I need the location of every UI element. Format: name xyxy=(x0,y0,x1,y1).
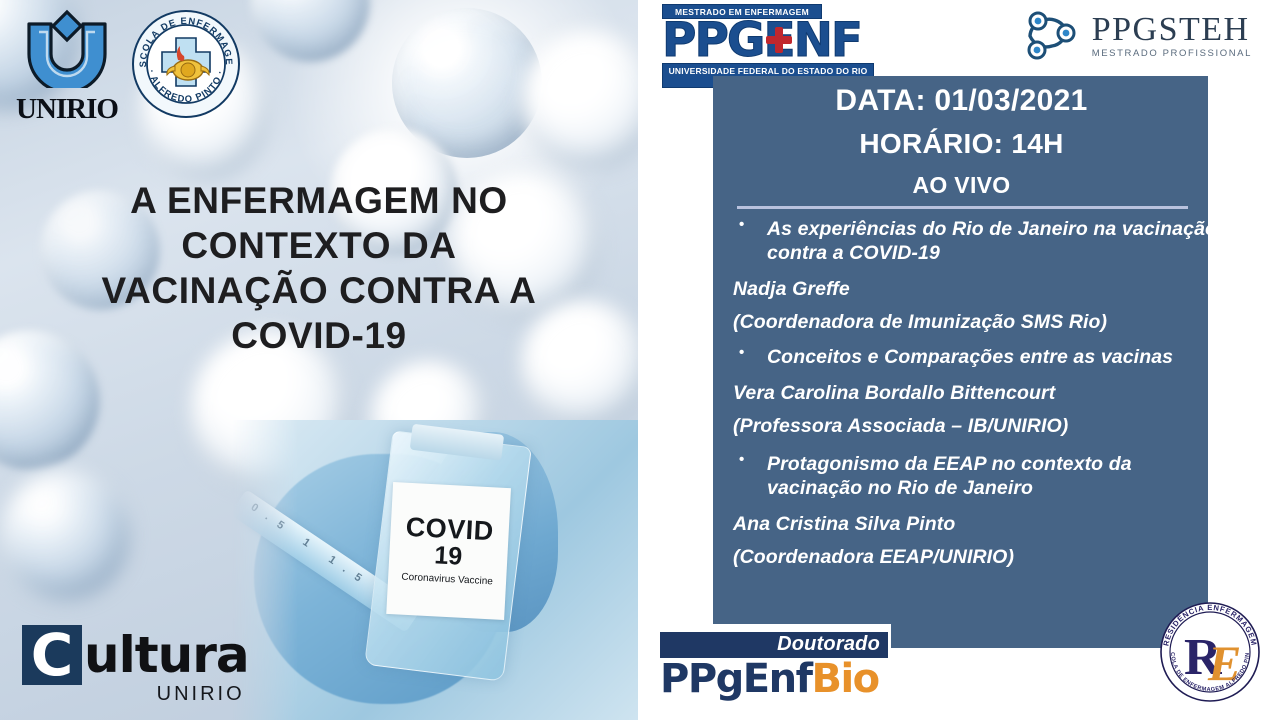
nursing-lamp-cross-seal-icon: ESCOLA DE ENFERMAGEM · ALFREDO PINTO · xyxy=(130,8,242,120)
vial-label: COVID 19 Coronavirus Vaccine xyxy=(386,482,511,620)
schedule-info-panel: DATA: 01/03/2021 HORÁRIO: 14H AO VIVO As… xyxy=(713,76,1208,648)
background-sphere xyxy=(0,470,130,600)
ppgenfbio-doutorado-label: Doutorado xyxy=(777,633,880,656)
cultura-logo-letter: C xyxy=(31,631,74,680)
residencia-enfermagem-seal: R E RESIDÊNCIA ENFERMAGEM ESCOLA DE ENFE… xyxy=(1154,596,1266,708)
poster-title-line: CONTEXTO DA xyxy=(24,223,614,268)
vial-label-sub: Coronavirus Vaccine xyxy=(401,572,493,588)
ppgsteh-wordmark: PPGSTEH xyxy=(1092,13,1252,47)
agenda-topic-line: vacinação no Rio de Janeiro xyxy=(767,476,1192,501)
red-cross-icon xyxy=(766,27,792,53)
network-nodes-icon xyxy=(1020,8,1082,64)
live-badge: AO VIVO xyxy=(731,172,1192,199)
eeap-seal: ESCOLA DE ENFERMAGEM · ALFREDO PINTO · xyxy=(130,8,242,120)
schedule-info-content: DATA: 01/03/2021 HORÁRIO: 14H AO VIVO As… xyxy=(713,76,1208,570)
agenda-topic: Conceitos e Comparações entre as vacinas xyxy=(733,345,1192,370)
ppgsteh-logo: PPGSTEH MESTRADO PROFISSIONAL xyxy=(1020,8,1252,64)
cultura-unirio-logo: C ultura UNIRIO xyxy=(22,625,249,706)
agenda-speaker-role: (Coordenadora de Imunização SMS Rio) xyxy=(733,310,1192,335)
agenda-speaker-role: (Coordenadora EEAP/UNIRIO) xyxy=(733,545,1192,570)
agenda-topic-line: As experiências do Rio de Janeiro na vac… xyxy=(767,217,1192,242)
background-sphere xyxy=(520,30,638,170)
ppgsteh-subtitle: MESTRADO PROFISSIONAL xyxy=(1092,49,1252,59)
poster-logo-row: UNIRIO ESCOLA DE ENFERMAGEM xyxy=(8,8,242,124)
ppgsteh-text: PPGSTEH MESTRADO PROFISSIONAL xyxy=(1092,13,1252,59)
agenda-speaker: Vera Carolina Bordallo Bittencourt xyxy=(733,381,1192,406)
ppgenfbio-logo: Doutorado PPgEnfBio xyxy=(660,632,888,700)
cultura-logo-sub: UNIRIO xyxy=(157,683,245,706)
agenda-topic-line: Conceitos e Comparações entre as vacinas xyxy=(767,345,1192,370)
covid-vaccine-photo: 0.5 1 1.5 COVID 19 Coronavirus Vaccine xyxy=(232,420,638,720)
agenda-topic-line: contra a COVID-19 xyxy=(767,241,1192,266)
ppgenfbio-wordmark: PPgEnfBio xyxy=(660,659,888,700)
unirio-logo: UNIRIO xyxy=(8,8,126,124)
poster-title: A ENFERMAGEM NO CONTEXTO DA VACINAÇÃO CO… xyxy=(24,178,614,359)
poster-title-line: COVID-19 xyxy=(24,313,614,358)
unirio-wordmark: UNIRIO xyxy=(8,95,126,124)
re-seal-icon: R E RESIDÊNCIA ENFERMAGEM ESCOLA DE ENFE… xyxy=(1154,596,1266,708)
agenda-topic: As experiências do Rio de Janeiro na vac… xyxy=(733,217,1192,266)
ppgenf-wordmark: PPGENF xyxy=(662,13,861,68)
ppgenfbio-top-band: Doutorado xyxy=(660,632,888,658)
vial-label-19: 19 xyxy=(434,542,463,570)
cultura-logo-square: C xyxy=(22,625,82,685)
vial-label-covid: COVID xyxy=(405,514,494,546)
background-sphere xyxy=(250,0,370,62)
cultura-logo-main: C ultura xyxy=(22,625,249,685)
agenda-speaker: Nadja Greffe xyxy=(733,277,1192,302)
event-date: DATA: 01/03/2021 xyxy=(731,82,1192,120)
event-details-panel: MESTRADO EM ENFERMAGEM PPGENF UNIVERSIDA… xyxy=(638,0,1280,720)
poster-title-line: A ENFERMAGEM NO xyxy=(24,178,614,223)
agenda-topic: Protagonismo da EEAP no contexto da vaci… xyxy=(733,452,1192,501)
section-divider xyxy=(737,206,1188,209)
ppgenfbio-word-a: PPgEnf xyxy=(660,656,811,702)
vial-cap xyxy=(410,424,504,461)
poster-left-panel: UNIRIO ESCOLA DE ENFERMAGEM xyxy=(0,0,638,720)
ppgenfbio-word-b: Bio xyxy=(811,656,878,702)
agenda-topic-line: Protagonismo da EEAP no contexto da xyxy=(767,452,1192,477)
panel-divider xyxy=(638,0,644,720)
agenda-speaker-role: (Professora Associada – IB/UNIRIO) xyxy=(733,414,1192,439)
ppgenf-wordmark-wrap: PPGENF xyxy=(662,19,890,62)
agenda-list: As experiências do Rio de Janeiro na vac… xyxy=(731,217,1192,570)
event-time: HORÁRIO: 14H xyxy=(731,126,1192,162)
unirio-u-diamond-icon xyxy=(15,8,119,88)
poster-title-line: VACINAÇÃO CONTRA A xyxy=(24,268,614,313)
cultura-logo-word: ultura xyxy=(84,633,249,678)
agenda-speaker: Ana Cristina Silva Pinto xyxy=(733,512,1192,537)
vaccine-vial: COVID 19 Coronavirus Vaccine xyxy=(364,430,532,681)
